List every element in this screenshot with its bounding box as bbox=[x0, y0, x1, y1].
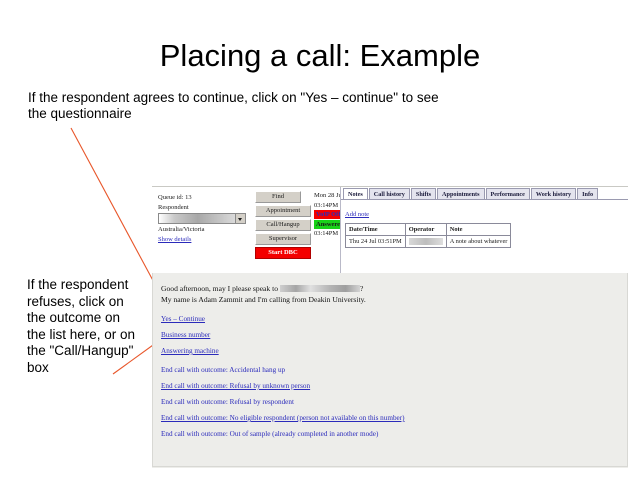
outcome-out-of-sample[interactable]: End call with outcome: Out of sample (al… bbox=[161, 430, 627, 439]
tab-call-history[interactable]: Call history bbox=[369, 188, 410, 199]
add-note-link[interactable]: Add note bbox=[345, 211, 369, 218]
script-question-mark: ? bbox=[360, 284, 363, 293]
table-header-row: Date/Time Operator Note bbox=[346, 224, 511, 236]
slide-canvas: Placing a call: Example If the responden… bbox=[0, 0, 640, 480]
app-header-bar: Queue id: 13 Respondent Australia/Victor… bbox=[152, 187, 628, 273]
find-button[interactable]: Find bbox=[255, 191, 301, 203]
script-greeting: Good afternoon, may I please speak to bbox=[161, 284, 280, 293]
respondent-info-block: Queue id: 13 Respondent Australia/Victor… bbox=[158, 193, 254, 244]
table-row[interactable]: Thu 24 Jul 03:51PM A note about whatever bbox=[346, 236, 511, 248]
respondent-label: Respondent bbox=[158, 203, 254, 213]
queue-id-label: Queue id: 13 bbox=[158, 193, 254, 203]
timezone-label: Australia/Victoria bbox=[158, 225, 254, 235]
tab-shifts[interactable]: Shifts bbox=[411, 188, 436, 199]
tab-appointments[interactable]: Appointments bbox=[437, 188, 484, 199]
tab-performance[interactable]: Performance bbox=[486, 188, 530, 199]
embedded-app-screenshot: Queue id: 13 Respondent Australia/Victor… bbox=[152, 186, 628, 468]
tab-notes[interactable]: Notes bbox=[343, 188, 368, 199]
outcome-refusal-unknown-person[interactable]: End call with outcome: Refusal by unknow… bbox=[161, 382, 627, 391]
outcome-answering-machine[interactable]: Answering machine bbox=[161, 347, 627, 356]
page-title: Placing a call: Example bbox=[0, 38, 640, 74]
chevron-down-icon[interactable] bbox=[235, 214, 245, 223]
notes-tab-panel: Notes Call history Shifts Appointments P… bbox=[340, 187, 628, 273]
outcome-business-number[interactable]: Business number bbox=[161, 331, 627, 340]
cell-datetime: Thu 24 Jul 03:51PM bbox=[346, 236, 406, 248]
tab-work-history[interactable]: Work history bbox=[531, 188, 576, 199]
annotation-top-text: If the respondent agrees to continue, cl… bbox=[28, 90, 458, 122]
call-hangup-button[interactable]: Call/Hangup bbox=[255, 219, 311, 231]
annotation-left-text: If the respondent refuses, click on the … bbox=[27, 277, 142, 376]
cell-note: A note about whatever bbox=[446, 236, 511, 248]
column-note: Note bbox=[446, 224, 511, 236]
tab-info[interactable]: Info bbox=[577, 188, 598, 199]
column-datetime: Date/Time bbox=[346, 224, 406, 236]
column-operator: Operator bbox=[405, 224, 446, 236]
tab-strip: Notes Call history Shifts Appointments P… bbox=[341, 187, 628, 200]
cell-operator bbox=[405, 236, 446, 248]
start-dbc-button[interactable]: Start DBC bbox=[255, 247, 311, 259]
outcome-refusal-respondent[interactable]: End call with outcome: Refusal by respon… bbox=[161, 398, 627, 407]
supervisor-button[interactable]: Supervisor bbox=[255, 233, 311, 245]
add-note-row: Add note bbox=[341, 200, 628, 223]
outcome-no-eligible-respondent[interactable]: End call with outcome: No eligible respo… bbox=[161, 414, 627, 423]
redacted-respondent-name bbox=[280, 285, 360, 292]
notes-table: Date/Time Operator Note Thu 24 Jul 03:51… bbox=[345, 223, 511, 248]
appointment-button[interactable]: Appointment bbox=[255, 205, 311, 217]
outcome-accidental-hang-up[interactable]: End call with outcome: Accidental hang u… bbox=[161, 366, 627, 375]
script-line-1: Good afternoon, may I please speak to ? bbox=[161, 283, 627, 294]
outcome-yes-continue[interactable]: Yes – Continue bbox=[161, 315, 627, 324]
call-script-body: Good afternoon, may I please speak to ? … bbox=[152, 273, 628, 467]
voip-status-badge: VoIP Off bbox=[314, 210, 343, 219]
script-line-2: My name is Adam Zammit and I'm calling f… bbox=[161, 294, 627, 305]
respondent-select[interactable] bbox=[158, 213, 246, 224]
call-control-buttons: Find Appointment Call/Hangup Supervisor … bbox=[255, 191, 311, 261]
arrow-to-yes-continue bbox=[71, 128, 164, 301]
show-details-link[interactable]: Show details bbox=[158, 235, 254, 245]
redacted-operator bbox=[409, 238, 443, 245]
